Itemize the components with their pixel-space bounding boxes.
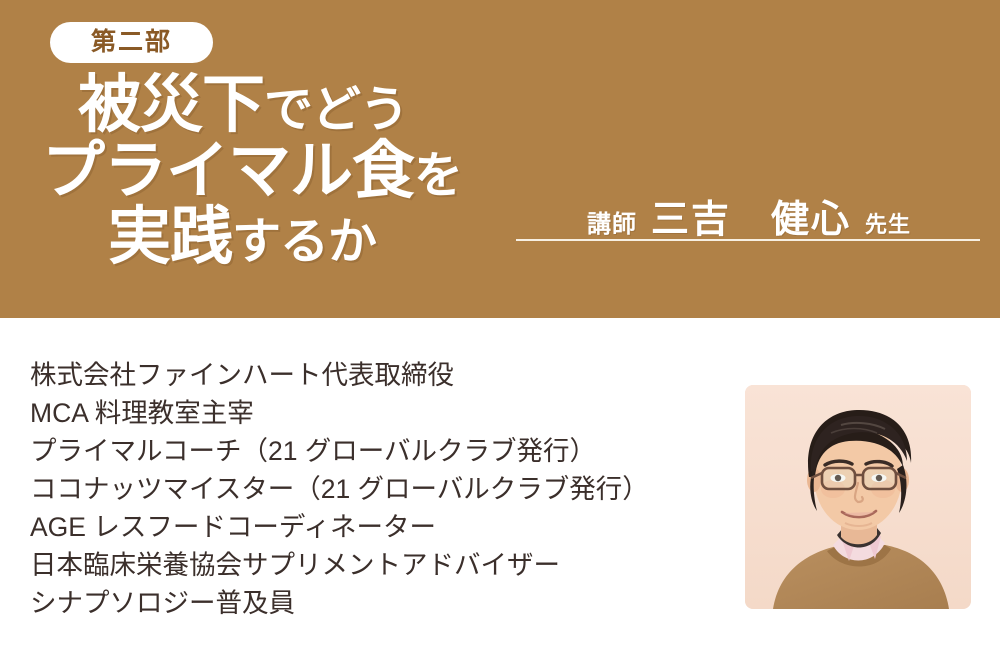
title-line-2-main: プライマル食 <box>42 136 414 206</box>
list-item: プライマルコーチ（21 グローバルクラブ発行） <box>30 432 730 470</box>
credentials-list: 株式会社ファインハート代表取締役 MCA 料理教室主宰 プライマルコーチ（21 … <box>30 356 730 622</box>
page-title: 被災下でどう プライマル食を 実践するか <box>0 74 520 269</box>
lecturer-credit: 講師 三吉 健心 先生 <box>516 188 982 243</box>
portrait-photo <box>745 385 971 609</box>
title-line-2-tail: を <box>414 149 462 203</box>
part-badge: 第二部 <box>50 22 213 63</box>
lecturer-role-label: 講師 <box>587 204 637 239</box>
title-line-3-tail: するか <box>232 215 376 269</box>
list-item: シナプソロジー普及員 <box>30 584 730 622</box>
part-badge-label: 第二部 <box>91 30 172 55</box>
lecturer-divider <box>516 239 980 241</box>
lecturer-name: 三吉 健心 <box>651 188 851 243</box>
list-item: AGE レスフードコーディネーター <box>30 508 730 546</box>
lecturer-honorific: 先生 <box>865 207 911 239</box>
title-line-3-main: 実践 <box>108 202 232 272</box>
list-item: 日本臨床栄養協会サプリメントアドバイザー <box>30 546 730 584</box>
header-band: 第二部 被災下でどう プライマル食を 実践するか 講師 三吉 健心 先生 <box>0 0 1000 318</box>
title-line-1-main: 被災下 <box>78 70 264 140</box>
title-line-3: 実践するか <box>0 206 520 269</box>
title-line-1-tail: でどう <box>264 83 408 137</box>
list-item: ココナッツマイスター（21 グローバルクラブ発行） <box>30 470 730 508</box>
list-item: MCA 料理教室主宰 <box>30 394 730 432</box>
title-line-1: 被災下でどう <box>0 74 520 137</box>
list-item: 株式会社ファインハート代表取締役 <box>30 356 730 394</box>
lecturer-row: 講師 三吉 健心 先生 <box>516 188 982 243</box>
title-line-2: プライマル食を <box>0 140 520 203</box>
